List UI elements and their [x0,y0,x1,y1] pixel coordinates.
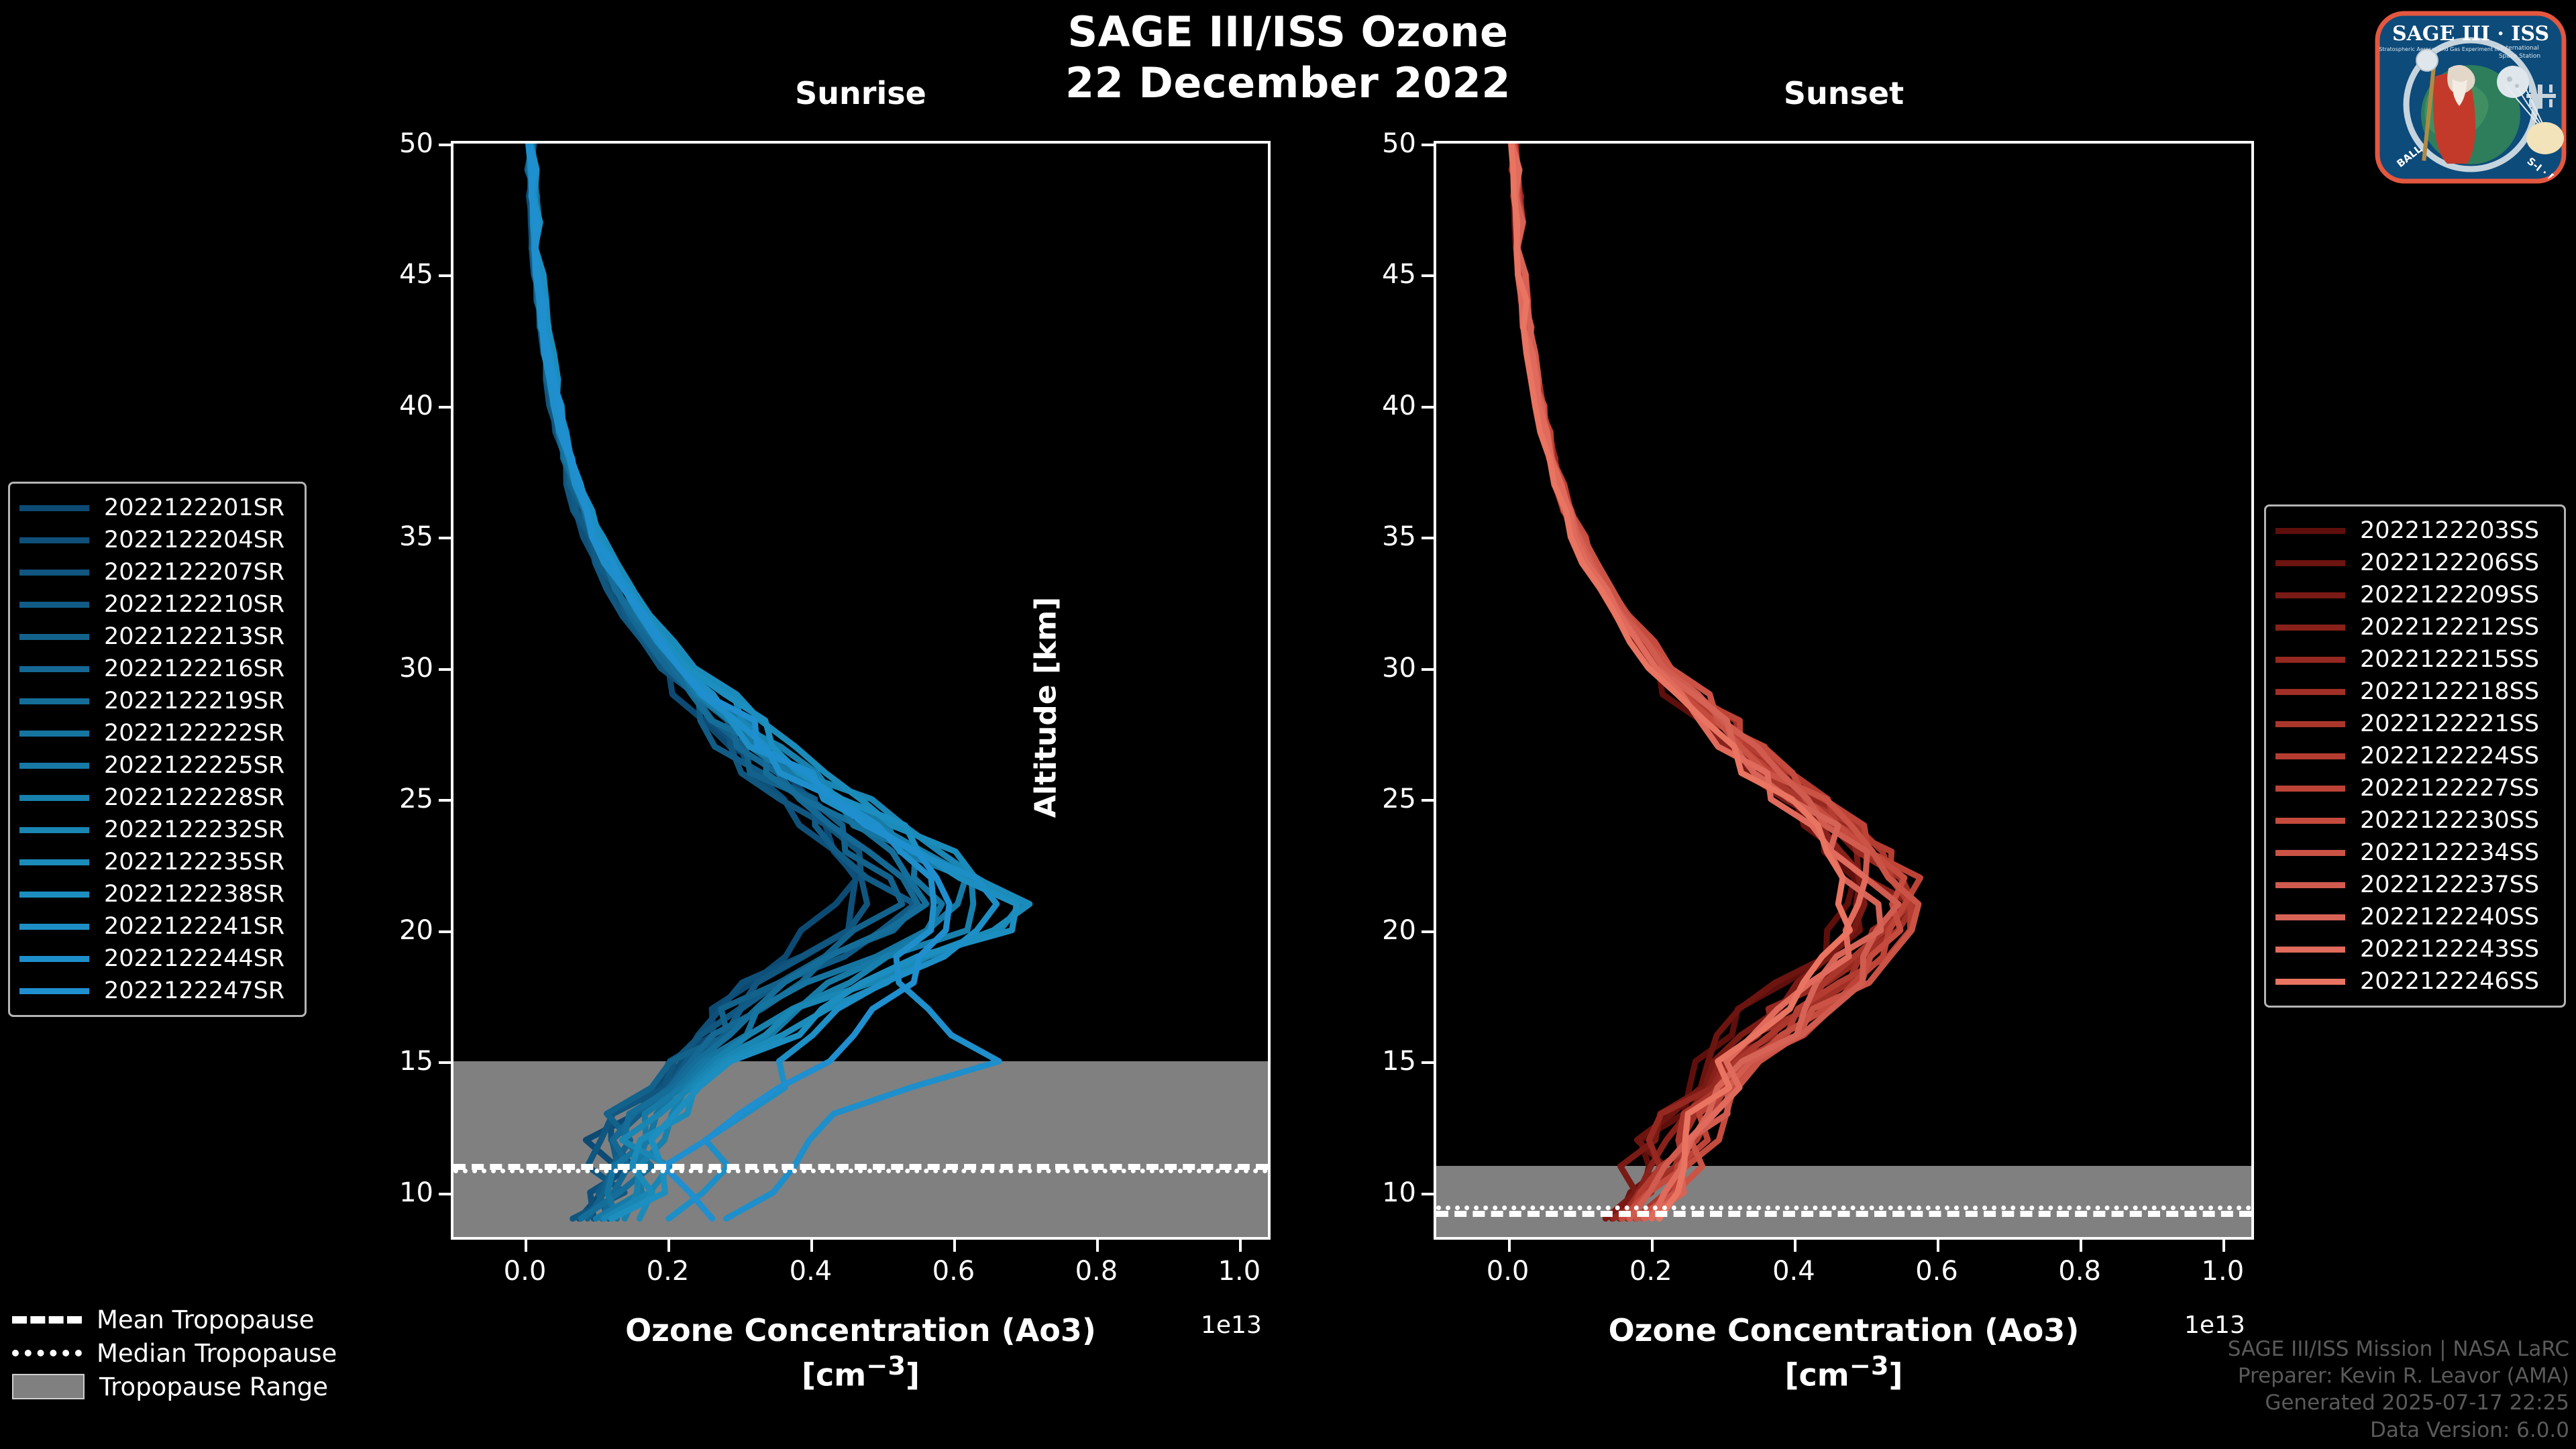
y-tick [1421,799,1434,802]
x-axis-label-line2: [cm−3] [1434,1350,2254,1395]
legend-sunrise-item[interactable]: 2022122219SR [19,685,292,717]
legend-item-tropopause-range[interactable]: Tropopause Range [12,1370,337,1403]
legend-sunrise-label: 2022122204SR [104,527,284,553]
y-tick-label: 50 [399,128,433,159]
legend-sunrise-label: 2022122210SR [104,591,284,618]
y-tick-label: 20 [399,915,433,946]
footer-line-generated: Generated 2025-07-17 22:25 [2228,1389,2569,1416]
plot-area-sunset[interactable] [1434,141,2254,1240]
median-tropopause-line-sunset [1436,1205,2251,1210]
legend-sunrise-label: 2022122201SR [104,494,284,521]
legend-sunset-label: 2022122246SS [2360,968,2539,995]
legend-sunrise-item[interactable]: 2022122238SR [19,878,292,910]
dotted-line-icon [12,1350,82,1356]
legend-sunrise-item[interactable]: 2022122225SR [19,749,292,782]
line-color-swatch-icon [2275,947,2345,953]
y-tick-label: 30 [399,653,433,684]
legend-sunset-label: 2022122206SS [2360,549,2539,576]
legend-sunrise-item[interactable]: 2022122213SR [19,621,292,653]
x-axis-label-line1: Ozone Concentration (Ao3) [451,1311,1271,1350]
legend-sunset-item[interactable]: 2022122206SS [2275,547,2552,579]
line-color-swatch-icon [2275,528,2345,534]
legend-sunset-label: 2022122212SS [2360,614,2539,641]
legend-sunset-item[interactable]: 2022122215SS [2275,643,2552,676]
legend-sunrise-label: 2022122238SR [104,881,284,908]
legend-sunrise-label: 2022122225SR [104,752,284,779]
legend-sunset-label: 2022122209SS [2360,582,2539,608]
y-tick-label: 35 [399,521,433,552]
x-axis-label-sunrise: Ozone Concentration (Ao3) [cm−3] [451,1311,1271,1394]
footer-credits: SAGE III/ISS Mission | NASA LaRC Prepare… [2228,1336,2569,1444]
x-tick [2222,1240,2225,1252]
y-tick [1421,406,1434,409]
line-color-swatch-icon [19,537,89,543]
x-tick [667,1240,670,1252]
footer-line-mission: SAGE III/ISS Mission | NASA LaRC [2228,1336,2569,1362]
legend-sunset-item[interactable]: 2022122218SS [2275,676,2552,708]
footer-line-data-version: Data Version: 6.0.0 [2228,1417,2569,1444]
line-color-swatch-icon [2275,753,2345,759]
line-color-swatch-icon [19,859,89,865]
legend-sunrise-item[interactable]: 2022122207SR [19,556,292,588]
ozone-profile-lines-sunrise [453,144,1268,1237]
x-tick [1239,1240,1242,1252]
x-tick [1651,1240,1654,1252]
x-tick [2080,1240,2082,1252]
dashed-line-icon [12,1316,82,1324]
footer-line-preparer: Preparer: Kevin R. Leavor (AMA) [2228,1362,2569,1389]
subplot-title-sunrise: Sunrise [451,75,1271,111]
legend-sunset-label: 2022122218SS [2360,678,2539,705]
ozone-profile-line [529,144,997,1219]
legend-sunrise-label: 2022122228SR [104,784,284,811]
y-tick-label: 40 [1382,390,1416,421]
legend-sunset-item[interactable]: 2022122243SS [2275,933,2552,965]
x-axis-label-sunset: Ozone Concentration (Ao3) [cm−3] [1434,1311,2254,1394]
legend-sunrise-label: 2022122241SR [104,913,284,940]
legend-sunrise-item[interactable]: 2022122216SR [19,653,292,685]
logo-subtitle-right-2: Space Station [2499,53,2540,60]
line-color-swatch-icon [2275,818,2345,824]
x-tick [1096,1240,1099,1252]
line-color-swatch-icon [19,763,89,769]
legend-sunset-item[interactable]: 2022122234SS [2275,837,2552,869]
legend-sunset-label: 2022122230SS [2360,807,2539,834]
y-tick [439,1061,451,1064]
line-color-swatch-icon [2275,786,2345,792]
line-color-swatch-icon [19,988,89,994]
line-color-swatch-icon [19,602,89,608]
legend-sunrise-label: 2022122235SR [104,849,284,875]
x-tick-label: 0.2 [1629,1256,1672,1287]
legend-sunset-item[interactable]: 2022122240SS [2275,901,2552,933]
y-tick [439,799,451,802]
legend-sunset-label: 2022122224SS [2360,743,2539,769]
mean-tropopause-line-sunset [1436,1211,2251,1217]
logo-subtitle-right-1: International [2500,45,2538,52]
line-color-swatch-icon [2275,914,2345,920]
y-tick-label: 20 [1382,915,1416,946]
line-color-swatch-icon [2275,979,2345,985]
y-tick-label: 25 [1382,784,1416,814]
line-color-swatch-icon [19,892,89,898]
legend-sunset-item[interactable]: 2022122224SS [2275,740,2552,772]
line-color-swatch-icon [19,956,89,962]
legend-sunset-item[interactable]: 2022122203SS [2275,515,2552,547]
y-tick [439,537,451,539]
legend-sunrise-label: 2022122213SR [104,623,284,650]
legend-sunset-item[interactable]: 2022122230SS [2275,804,2552,837]
legend-label-tropopause-range: Tropopause Range [99,1373,328,1401]
line-color-swatch-icon [2275,850,2345,856]
y-tick [1421,1193,1434,1195]
legend-sunrise-item[interactable]: 2022122210SR [19,588,292,621]
legend-sunrise-item[interactable]: 2022122204SR [19,524,292,556]
x-tick [1937,1240,1939,1252]
y-tick [1421,537,1434,539]
legend-label-median-tropopause: Median Tropopause [97,1339,337,1368]
y-tick [1421,668,1434,671]
legend-sunrise-item[interactable]: 2022122201SR [19,492,292,524]
ozone-profile-line [1515,144,1913,1219]
y-tick-label: 15 [1382,1046,1416,1077]
x-axis-sunrise: 0.00.20.40.60.81.0 [451,1240,1271,1300]
legend-sunset-label: 2022122234SS [2360,839,2539,866]
line-color-swatch-icon [19,827,89,833]
x-tick-label: 0.0 [1487,1256,1529,1287]
logo-title: SAGE III · ISS [2392,22,2549,46]
gray-band-swatch-icon [12,1374,85,1399]
x-tick-label: 0.8 [1075,1256,1118,1287]
legend-sunset-label: 2022122240SS [2360,904,2539,930]
legend-label-mean-tropopause: Mean Tropopause [97,1305,315,1334]
x-tick-label: 1.0 [1218,1256,1261,1287]
x-axis-sunset: 0.00.20.40.60.81.0 [1434,1240,2254,1300]
line-color-swatch-icon [19,666,89,672]
legend-item-median-tropopause[interactable]: Median Tropopause [12,1336,337,1370]
x-tick [1508,1240,1511,1252]
legend-sunrise-item[interactable]: 2022122235SR [19,846,292,878]
x-tick-label: 0.2 [647,1256,690,1287]
legend-sunrise-label: 2022122232SR [104,816,284,843]
legend-item-mean-tropopause[interactable]: Mean Tropopause [12,1303,337,1336]
y-tick [1421,930,1434,933]
x-axis-label-line2: [cm−3] [451,1350,1271,1395]
y-tick-label: 15 [399,1046,433,1077]
legend-sunset-item[interactable]: 2022122246SS [2275,965,2552,998]
legend-sunset-label: 2022122243SS [2360,936,2539,963]
x-tick-label: 0.4 [1772,1256,1815,1287]
line-color-swatch-icon [19,634,89,640]
legend-sunrise-item[interactable]: 2022122247SR [19,975,292,1007]
x-tick [953,1240,956,1252]
median-tropopause-line-sunrise [453,1169,1268,1173]
y-tick-label: 45 [1382,259,1416,290]
y-tick [439,406,451,409]
ozone-profile-lines-sunset [1436,144,2251,1237]
legend-sunrise-item[interactable]: 2022122222SR [19,717,292,749]
line-color-swatch-icon [2275,882,2345,888]
legend-sunrise-label: 2022122222SR [104,720,284,747]
legend-sunrise-events[interactable]: 2022122201SR2022122204SR2022122207SR2022… [8,482,307,1017]
line-color-swatch-icon [19,570,89,576]
legend-sunrise-item[interactable]: 2022122228SR [19,782,292,814]
y-tick [1421,144,1434,146]
legend-sunset-label: 2022122203SS [2360,517,2539,544]
legend-sunset-item[interactable]: 2022122237SS [2275,869,2552,901]
legend-sunrise-label: 2022122216SR [104,655,284,682]
legend-sunrise-label: 2022122219SR [104,688,284,714]
legend-sunset-label: 2022122215SS [2360,646,2539,673]
y-tick-label: 35 [1382,521,1416,552]
y-tick-label: 25 [399,784,433,814]
x-tick-label: 0.4 [790,1256,833,1287]
line-color-swatch-icon [2275,625,2345,631]
legend-sunset-item[interactable]: 2022122209SS [2275,579,2552,611]
y-tick-label: 10 [1382,1177,1416,1208]
x-axis-label-line1: Ozone Concentration (Ao3) [1434,1311,2254,1350]
ozone-profile-line [531,144,1021,1219]
x-axis-offset-sunrise: 1e13 [1201,1311,1262,1339]
legend-sunset-item[interactable]: 2022122227SS [2275,772,2552,804]
x-tick-label: 1.0 [2202,1256,2245,1287]
line-color-swatch-icon [19,698,89,704]
y-tick [439,930,451,933]
legend-sunset-events[interactable]: 2022122203SS2022122206SS2022122209SS2022… [2264,504,2566,1008]
legend-sunrise-item[interactable]: 2022122241SR [19,910,292,943]
line-color-swatch-icon [2275,560,2345,566]
plot-area-sunrise[interactable] [451,141,1271,1240]
y-tick [439,144,451,146]
x-tick [1794,1240,1796,1252]
ozone-profile-line [531,144,973,1219]
legend-sunrise-label: 2022122247SR [104,977,284,1004]
legend-sunrise-label: 2022122207SR [104,559,284,586]
legend-sunset-item[interactable]: 2022122221SS [2275,708,2552,740]
y-tick [439,274,451,277]
logo-subtitle-left: Stratospheric Aerosol and Gas Experiment… [2379,46,2499,52]
sage-iii-iss-mission-patch-logo: SAGE III · ISS Stratospheric Aerosol and… [2373,4,2568,184]
ozone-profile-line [529,144,1000,1219]
legend-sunset-label: 2022122227SS [2360,775,2539,802]
x-tick-label: 0.6 [932,1256,975,1287]
y-tick [1421,274,1434,277]
y-tick-label: 50 [1382,128,1416,159]
title-line-1: SAGE III/ISS Ozone [0,7,2576,58]
x-tick-label: 0.0 [504,1256,547,1287]
x-tick-label: 0.8 [2058,1256,2101,1287]
legend-sunset-item[interactable]: 2022122212SS [2275,611,2552,643]
ozone-profile-line [1515,144,1911,1219]
y-tick [439,668,451,671]
line-color-swatch-icon [19,731,89,737]
y-tick-label: 10 [399,1177,433,1208]
y-tick [1421,1061,1434,1064]
legend-sunrise-item[interactable]: 2022122244SR [19,943,292,975]
x-tick [810,1240,813,1252]
y-tick-label: 40 [399,390,433,421]
y-tick [439,1193,451,1195]
line-color-swatch-icon [2275,657,2345,663]
line-color-swatch-icon [2275,689,2345,695]
legend-sunset-label: 2022122237SS [2360,871,2539,898]
line-color-swatch-icon [19,505,89,511]
line-color-swatch-icon [19,924,89,930]
line-color-swatch-icon [2275,592,2345,598]
y-tick-label: 30 [1382,653,1416,684]
legend-sunrise-label: 2022122244SR [104,945,284,972]
x-tick [525,1240,527,1252]
subplot-title-sunset: Sunset [1434,75,2254,111]
line-color-swatch-icon [19,795,89,801]
ozone-profile-line [1512,144,1915,1219]
x-tick-label: 0.6 [1915,1256,1958,1287]
legend-tropopause[interactable]: Mean Tropopause Median Tropopause Tropop… [12,1303,337,1403]
legend-sunrise-item[interactable]: 2022122232SR [19,814,292,846]
legend-sunset-label: 2022122221SS [2360,710,2539,737]
y-axis-label-sunset: Altitude [km] [1029,560,1063,855]
ozone-profile-line [530,144,1017,1219]
y-tick-label: 45 [399,259,433,290]
line-color-swatch-icon [2275,721,2345,727]
